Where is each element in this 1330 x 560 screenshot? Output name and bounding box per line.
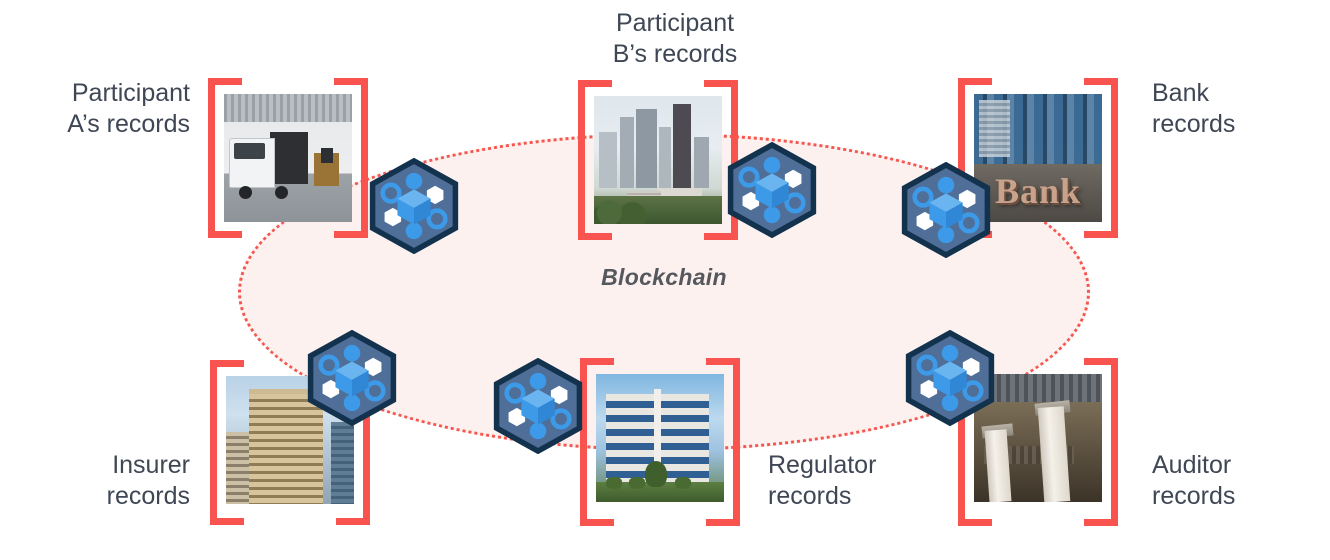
label-auditor-records: Auditor records: [1152, 450, 1330, 511]
blockchain-node-icon-participant-b[interactable]: [726, 142, 818, 238]
label-insurer-records: Insurer records: [20, 450, 190, 511]
blockchain-diagram: Blockchain Participant A’s records Parti…: [0, 0, 1330, 560]
label-regulator-records: Regulator records: [768, 450, 968, 511]
blockchain-node-icon-participant-a[interactable]: [368, 158, 460, 254]
blockchain-node-icon-auditor[interactable]: [904, 330, 996, 426]
blockchain-node-icon-regulator[interactable]: [492, 358, 584, 454]
label-bank-records: Bank records: [1152, 78, 1330, 139]
blockchain-node-icon-bank[interactable]: [900, 162, 992, 258]
panel-participant-b-records: [578, 80, 738, 240]
photo-regulator: [596, 374, 724, 502]
bank-signage-text: Bank: [982, 171, 1095, 212]
panel-participant-a-records: [208, 78, 368, 238]
label-participant-a-records: Participant A’s records: [20, 78, 190, 139]
panel-regulator-records: [580, 358, 740, 526]
photo-bank: Bank: [974, 94, 1102, 222]
blockchain-node-icon-insurer[interactable]: [306, 330, 398, 426]
blockchain-center-label: Blockchain: [241, 264, 1087, 291]
photo-participant-a: [224, 94, 352, 222]
photo-participant-b: [594, 96, 722, 224]
label-participant-b-records: Participant B’s records: [545, 8, 805, 69]
